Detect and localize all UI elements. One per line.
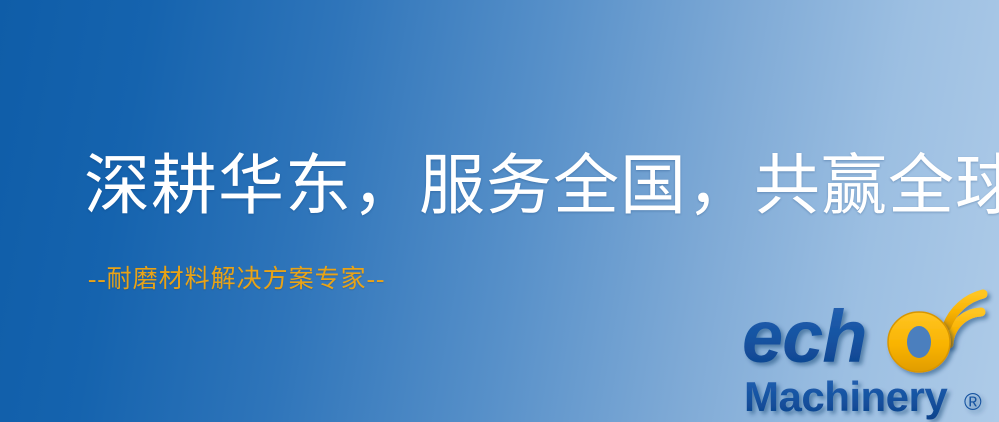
page-subtitle: --耐磨材料解决方案专家-- — [88, 264, 385, 296]
promo-banner: 深耕华东，服务全国，共赢全球 --耐磨材料解决方案专家-- — [0, 0, 999, 422]
logo-wordmark-gold — [888, 312, 950, 372]
logo-wordmark-blue: ech — [742, 295, 867, 378]
echo-machinery-logo: ech Machinery ® — [742, 296, 994, 420]
page-title: 深耕华东，服务全国，共赢全球 — [84, 148, 999, 226]
registered-trademark-icon: ® — [964, 389, 982, 416]
signal-arcs-icon — [947, 294, 983, 344]
logo-subbrand: Machinery — [744, 373, 948, 420]
